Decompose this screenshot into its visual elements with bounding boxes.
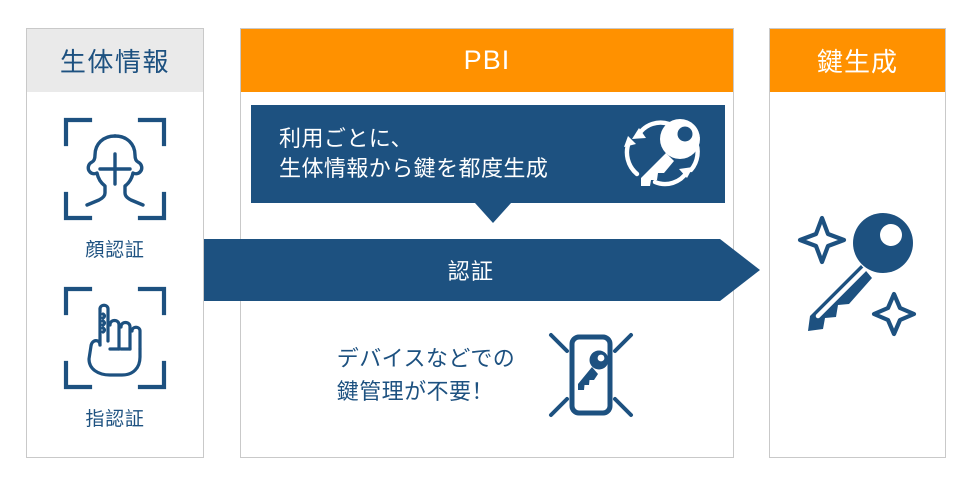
- biometric-items-list: 顔認証: [27, 92, 203, 457]
- key-generation-header: 鍵生成: [770, 29, 945, 92]
- key-generation-panel: 鍵生成: [769, 28, 946, 458]
- biometric-info-panel: 生体情報: [26, 28, 204, 458]
- pbi-header: PBI: [241, 29, 733, 92]
- phone-key-icon: [545, 329, 637, 421]
- pbi-callout-tail: [475, 203, 511, 223]
- pbi-callout-text: 利用ごとに、 生体情報から鍵を都度生成: [279, 124, 613, 185]
- pbi-callout-box: 利用ごとに、 生体情報から鍵を都度生成: [251, 105, 725, 203]
- biometric-info-header: 生体情報: [27, 29, 203, 92]
- pbi-bottom-text: デバイスなどでの 鍵管理が不要！: [337, 342, 515, 408]
- biometric-item-face-label: 顔認証: [85, 235, 144, 262]
- biometric-item-finger: 指認証: [60, 283, 170, 431]
- rotating-key-icon: [617, 112, 709, 196]
- key-generation-body: [770, 92, 945, 457]
- biometric-item-finger-label: 指認証: [85, 404, 144, 431]
- fingerprint-scan-icon: [60, 283, 170, 398]
- diagram-canvas: 生体情報: [0, 0, 972, 486]
- biometric-item-face: 顔認証: [60, 114, 170, 262]
- authentication-arrow: 認証: [204, 239, 760, 301]
- pbi-bottom-message: デバイスなどでの 鍵管理が不要！: [241, 329, 733, 421]
- sparkling-key-icon: [788, 198, 928, 338]
- face-scan-icon: [60, 114, 170, 229]
